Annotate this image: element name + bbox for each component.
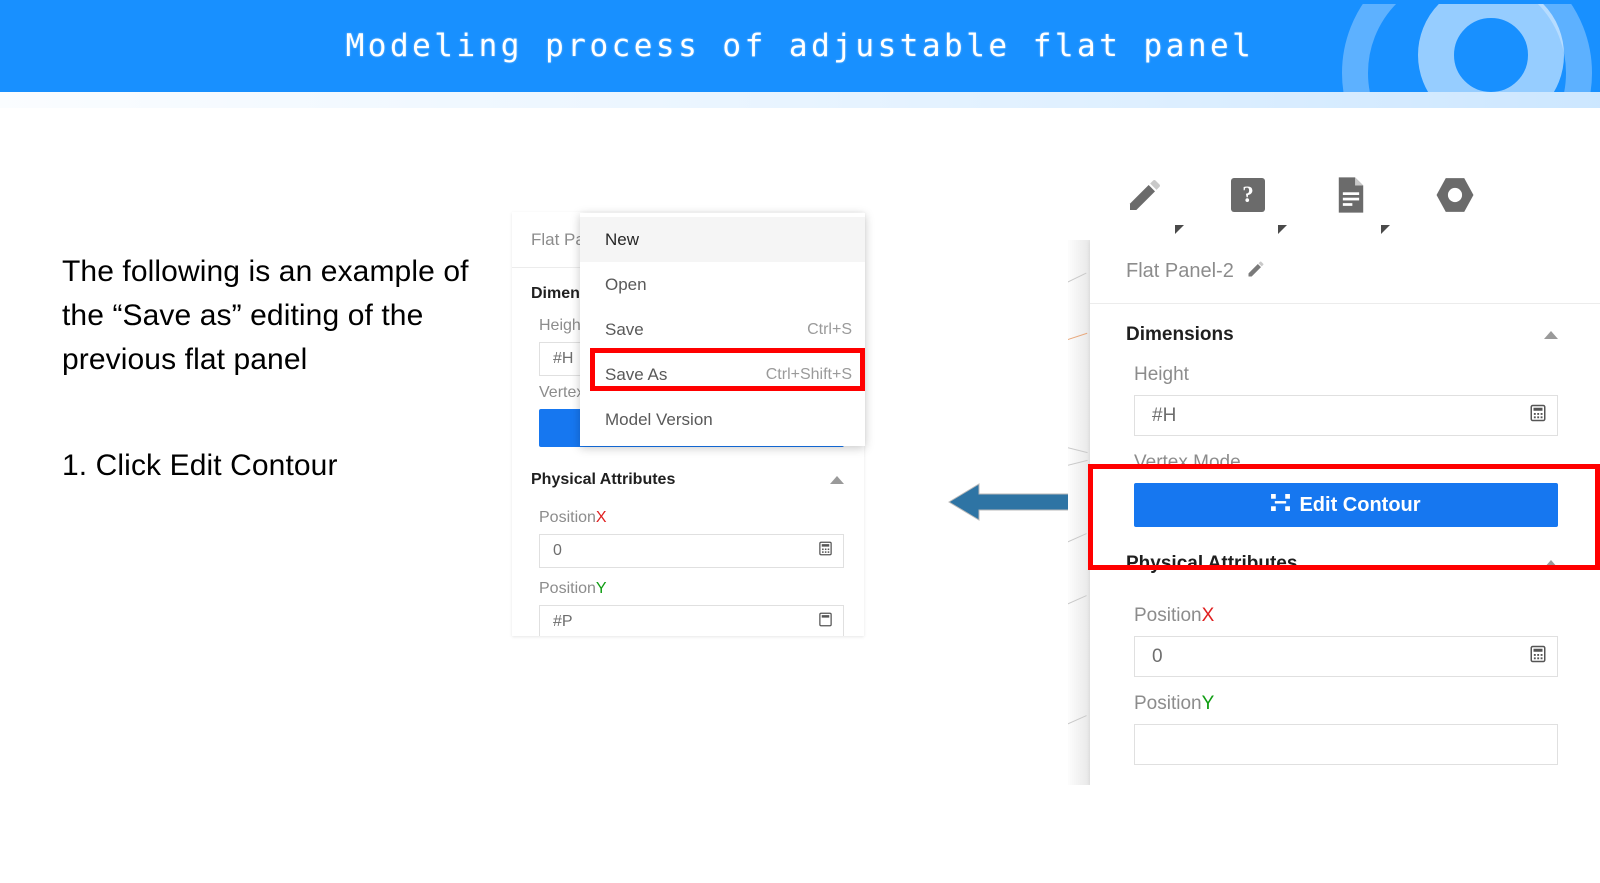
banner-gradient-strip xyxy=(0,92,1600,108)
nut-icon[interactable] xyxy=(1432,172,1478,218)
before-position-x-field: PositionX 0 xyxy=(512,495,864,568)
after-panel-name: Flat Panel-2 xyxy=(1126,260,1234,283)
after-physical-title: Physical Attributes xyxy=(1126,553,1297,575)
viewport-ruler-strip xyxy=(1068,240,1090,785)
model-toolbar[interactable]: ? xyxy=(1100,172,1520,234)
after-height-value: #H xyxy=(1152,405,1176,427)
before-position-y-label: PositionY xyxy=(539,580,844,598)
after-height-input[interactable]: #H xyxy=(1134,395,1558,436)
calculator-icon[interactable] xyxy=(818,541,833,561)
after-position-x-value: 0 xyxy=(1152,646,1163,668)
after-height-label: Height xyxy=(1134,364,1558,386)
chevron-up-icon[interactable] xyxy=(1544,560,1558,568)
menu-item-model-version-label: Model Version xyxy=(605,410,713,430)
before-position-x-input[interactable]: 0 xyxy=(539,534,844,568)
after-position-y-input[interactable] xyxy=(1134,724,1558,765)
after-edit-contour-label: Edit Contour xyxy=(1299,494,1420,517)
chevron-up-icon[interactable] xyxy=(1544,331,1558,339)
menu-item-save[interactable]: Save Ctrl+S xyxy=(580,307,865,352)
help-icon[interactable]: ? xyxy=(1225,172,1271,218)
document-icon[interactable] xyxy=(1328,172,1374,218)
narrative-block: The following is an example of the “Save… xyxy=(62,250,492,488)
chevron-down-icon[interactable] xyxy=(1175,225,1184,234)
after-panel-header: Flat Panel-2 xyxy=(1090,240,1600,304)
after-panel-stage: Flat Panel-2 Dimensions Height #H xyxy=(1068,240,1600,785)
after-position-y-label: PositionY xyxy=(1134,693,1558,715)
before-physical-title: Physical Attributes xyxy=(531,471,675,489)
narrative-paragraph: The following is an example of the “Save… xyxy=(62,250,492,382)
contour-vertex-icon xyxy=(1271,494,1290,517)
after-position-x-label: PositionX xyxy=(1134,605,1558,627)
after-dimensions-title: Dimensions xyxy=(1126,324,1234,346)
menu-item-new[interactable]: New xyxy=(580,217,865,262)
after-dimensions-section-header[interactable]: Dimensions xyxy=(1090,304,1600,354)
pencil-icon[interactable] xyxy=(1122,172,1168,218)
after-physical-section-header[interactable]: Physical Attributes xyxy=(1090,527,1600,583)
before-position-y-value: #P xyxy=(553,613,573,631)
after-vertex-field: Vertex Mode xyxy=(1090,436,1600,474)
after-vertex-label: Vertex Mode xyxy=(1134,452,1558,474)
before-position-x-value: 0 xyxy=(553,542,562,560)
chevron-up-icon[interactable] xyxy=(830,476,844,484)
after-properties-panel: Flat Panel-2 Dimensions Height #H xyxy=(1090,240,1600,785)
menu-item-open[interactable]: Open xyxy=(580,262,865,307)
before-position-y-field: PositionY #P xyxy=(512,568,864,636)
calculator-icon[interactable] xyxy=(1529,404,1547,428)
menu-item-save-label: Save xyxy=(605,320,644,340)
menu-item-model-version[interactable]: Model Version xyxy=(580,397,865,442)
page-title: Modeling process of adjustable flat pane… xyxy=(0,0,1600,92)
flow-arrow-left xyxy=(945,478,1077,526)
menu-item-open-label: Open xyxy=(605,275,647,295)
after-position-x-field: PositionX 0 xyxy=(1090,583,1600,677)
menu-item-new-label: New xyxy=(605,230,639,250)
pencil-icon[interactable] xyxy=(1246,259,1266,284)
after-height-field: Height #H xyxy=(1090,354,1600,436)
after-edit-contour-button[interactable]: Edit Contour xyxy=(1134,483,1558,527)
before-height-value: #H xyxy=(553,350,573,368)
after-position-y-field: PositionY xyxy=(1090,677,1600,765)
after-position-x-input[interactable]: 0 xyxy=(1134,636,1558,677)
calculator-icon[interactable] xyxy=(1529,645,1547,669)
before-position-x-label: PositionX xyxy=(539,509,844,527)
before-position-y-input[interactable]: #P xyxy=(539,605,844,636)
file-dropdown-menu[interactable]: New Open Save Ctrl+S Save As Ctrl+Shift+… xyxy=(580,213,865,446)
menu-item-save-as[interactable]: Save As Ctrl+Shift+S xyxy=(580,352,865,397)
chevron-down-icon[interactable] xyxy=(1381,225,1390,234)
header-banner: Modeling process of adjustable flat pane… xyxy=(0,0,1600,92)
menu-item-save-as-shortcut: Ctrl+Shift+S xyxy=(766,366,852,384)
chevron-down-icon[interactable] xyxy=(1278,225,1287,234)
menu-item-save-as-label: Save As xyxy=(605,365,667,385)
before-physical-section-header[interactable]: Physical Attributes xyxy=(512,447,864,495)
help-icon-glyph: ? xyxy=(1231,178,1265,212)
calculator-icon[interactable] xyxy=(818,612,833,632)
narrative-step: 1. Click Edit Contour xyxy=(62,444,492,488)
menu-item-save-shortcut: Ctrl+S xyxy=(807,321,852,339)
